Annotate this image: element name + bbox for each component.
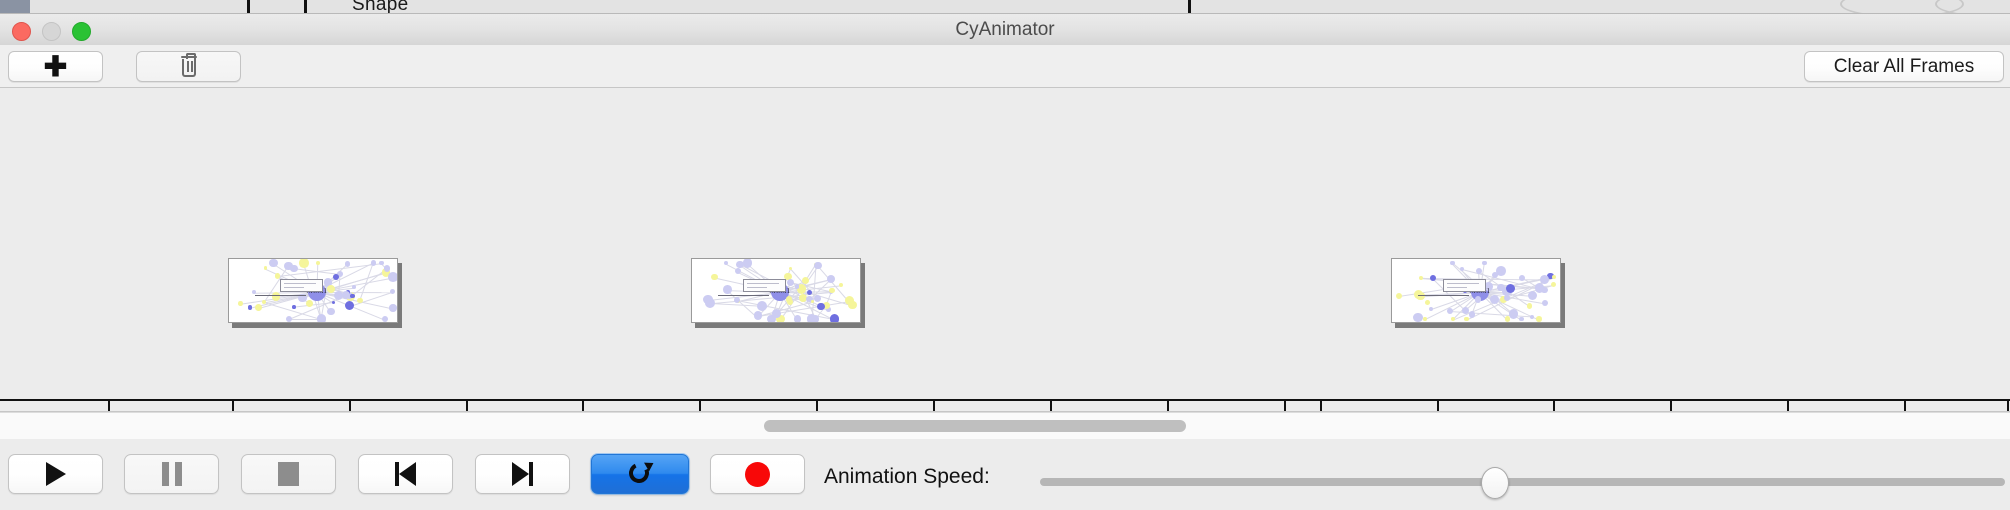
annotation-callout xyxy=(743,279,786,292)
axis-tick-minor xyxy=(108,401,110,411)
network-node xyxy=(388,272,398,282)
trash-icon xyxy=(180,56,198,78)
axis-tick-minor xyxy=(816,401,818,411)
network-node xyxy=(807,290,812,295)
skip-start-button[interactable] xyxy=(358,454,453,494)
network-node xyxy=(292,305,296,309)
network-node xyxy=(817,303,824,310)
network-node xyxy=(754,311,762,319)
stop-icon xyxy=(278,462,299,486)
network-node xyxy=(1552,275,1556,279)
network-node xyxy=(327,285,335,293)
network-node xyxy=(814,295,821,302)
axis-tick-minor xyxy=(1904,401,1906,411)
frame-thumbnail: MCM1 xyxy=(1391,258,1561,323)
network-node xyxy=(1536,316,1541,321)
network-node xyxy=(334,291,343,300)
timeline-frame[interactable]: MCM1 xyxy=(228,258,398,323)
network-node xyxy=(807,314,816,323)
animation-speed-label: Animation Speed: xyxy=(824,465,990,489)
network-node xyxy=(786,296,793,303)
network-node xyxy=(787,279,794,286)
network-node xyxy=(1542,300,1549,307)
network-node xyxy=(290,265,298,273)
network-node xyxy=(723,285,732,294)
timeline-frame[interactable]: MCM1 xyxy=(691,258,861,323)
network-node xyxy=(794,315,802,323)
network-node xyxy=(332,301,336,305)
network-node xyxy=(333,274,339,280)
network-node xyxy=(1527,303,1532,308)
transport-bar: Animation Speed: xyxy=(0,439,2010,510)
network-node xyxy=(345,261,350,266)
axis-tick-minor xyxy=(1320,401,1322,411)
annotation-caption xyxy=(1418,295,1469,296)
annotation-callout xyxy=(1443,279,1486,292)
stop-button[interactable] xyxy=(241,454,336,494)
network-node xyxy=(390,289,395,294)
delete-frame-button[interactable] xyxy=(136,51,241,82)
add-frame-button[interactable]: ✚ xyxy=(8,51,103,82)
network-node xyxy=(1464,317,1469,322)
network-node xyxy=(1460,267,1464,271)
network-node xyxy=(1506,284,1515,293)
record-button[interactable] xyxy=(710,454,805,494)
play-button[interactable] xyxy=(8,454,103,494)
axis-tick-major xyxy=(1437,401,1439,412)
network-node xyxy=(1496,266,1506,276)
network-node xyxy=(389,304,396,311)
network-node xyxy=(814,262,821,269)
timeline-frame[interactable]: MCM1 xyxy=(1391,258,1561,323)
axis-tick-minor xyxy=(349,401,351,411)
network-node xyxy=(827,275,836,284)
axis-tick-minor xyxy=(2007,401,2009,411)
network-node xyxy=(299,258,309,268)
network-node xyxy=(772,309,781,318)
network-node xyxy=(830,314,839,323)
toolbar: ✚ Clear All Frames xyxy=(0,45,2010,88)
record-icon xyxy=(745,462,770,487)
network-node xyxy=(829,288,834,293)
network-node xyxy=(1469,311,1475,317)
axis-tick-minor xyxy=(1787,401,1789,411)
annotation-caption xyxy=(718,295,769,296)
frame-thumbnail: MCM1 xyxy=(691,258,861,323)
animation-speed-slider[interactable] xyxy=(1040,478,2005,486)
network-node xyxy=(238,301,243,306)
network-node xyxy=(1528,291,1537,300)
network-node xyxy=(272,292,280,300)
network-node xyxy=(345,301,354,310)
network-node xyxy=(1497,284,1504,291)
network-node xyxy=(316,261,320,265)
network-node xyxy=(757,301,767,311)
network-node xyxy=(734,297,740,303)
animation-speed-thumb[interactable] xyxy=(1481,467,1509,499)
play-icon xyxy=(46,462,66,486)
skip-start-icon xyxy=(395,462,416,486)
network-node xyxy=(1429,307,1433,311)
background-window-label: Shape xyxy=(352,0,408,14)
network-node xyxy=(1476,268,1482,274)
network-node xyxy=(384,265,390,271)
network-node xyxy=(317,314,327,323)
network-node xyxy=(1504,295,1511,302)
network-node xyxy=(811,300,814,303)
network-node xyxy=(350,294,354,298)
network-node xyxy=(269,259,278,268)
frame-thumbnail: MCM1 xyxy=(228,258,398,323)
network-node xyxy=(327,308,334,315)
network-node xyxy=(1505,316,1511,322)
pause-button[interactable] xyxy=(124,454,219,494)
axis-tick-minor xyxy=(1050,401,1052,411)
background-window-strip: Shape xyxy=(0,0,2010,14)
axis-tick-major xyxy=(933,401,935,412)
axis-tick-minor xyxy=(1167,401,1169,411)
clear-all-frames-button[interactable]: Clear All Frames xyxy=(1804,51,2004,82)
network-node xyxy=(379,261,383,265)
network-node xyxy=(839,283,843,287)
network-node xyxy=(306,300,313,307)
network-node xyxy=(1475,296,1482,303)
network-node xyxy=(1519,317,1524,322)
network-node xyxy=(1551,282,1556,287)
network-node xyxy=(248,305,252,309)
network-node xyxy=(1462,307,1469,314)
annotation-callout xyxy=(280,279,323,292)
network-node xyxy=(352,285,356,289)
horizontal-scrollbar[interactable] xyxy=(0,412,2010,440)
network-node xyxy=(1540,275,1549,284)
scrollbar-thumb[interactable] xyxy=(764,420,1186,432)
network-node xyxy=(1396,293,1402,299)
axis-tick-major xyxy=(232,401,234,412)
loop-button[interactable] xyxy=(591,454,689,494)
loop-icon xyxy=(627,461,653,487)
network-node xyxy=(1451,317,1455,321)
axis-tick-major xyxy=(1670,401,1672,412)
network-node xyxy=(286,316,292,322)
network-node xyxy=(1450,261,1454,265)
network-node xyxy=(371,260,376,265)
network-node xyxy=(357,298,363,304)
network-node xyxy=(1413,313,1422,322)
title-bar: CyAnimator xyxy=(0,14,2010,46)
axis-tick-major xyxy=(699,401,701,412)
time-axis xyxy=(0,399,2010,401)
skip-end-button[interactable] xyxy=(475,454,570,494)
network-node xyxy=(1416,292,1425,301)
network-node xyxy=(1447,308,1453,314)
network-node xyxy=(1423,317,1426,320)
network-node xyxy=(1419,276,1423,280)
timeline-panel[interactable]: MCM1MCM1MCM1 2131415161718 Seconds xyxy=(0,88,2010,412)
axis-tick-minor xyxy=(1284,401,1286,411)
network-node xyxy=(1425,300,1430,305)
annotation-caption xyxy=(255,295,306,296)
network-node xyxy=(1530,315,1534,319)
network-node xyxy=(802,277,810,285)
window-title: CyAnimator xyxy=(0,14,2010,45)
axis-tick-minor xyxy=(1553,401,1555,411)
axis-tick-major xyxy=(466,401,468,412)
network-node xyxy=(382,316,388,322)
cyanimator-window: Shape CyAnimator ✚ Clear All Frames MCM1… xyxy=(0,0,2010,510)
skip-end-icon xyxy=(512,462,533,486)
axis-tick-minor xyxy=(582,401,584,411)
pause-icon xyxy=(162,462,182,486)
network-node xyxy=(711,274,718,281)
network-node xyxy=(1482,261,1486,265)
network-node xyxy=(255,304,262,311)
